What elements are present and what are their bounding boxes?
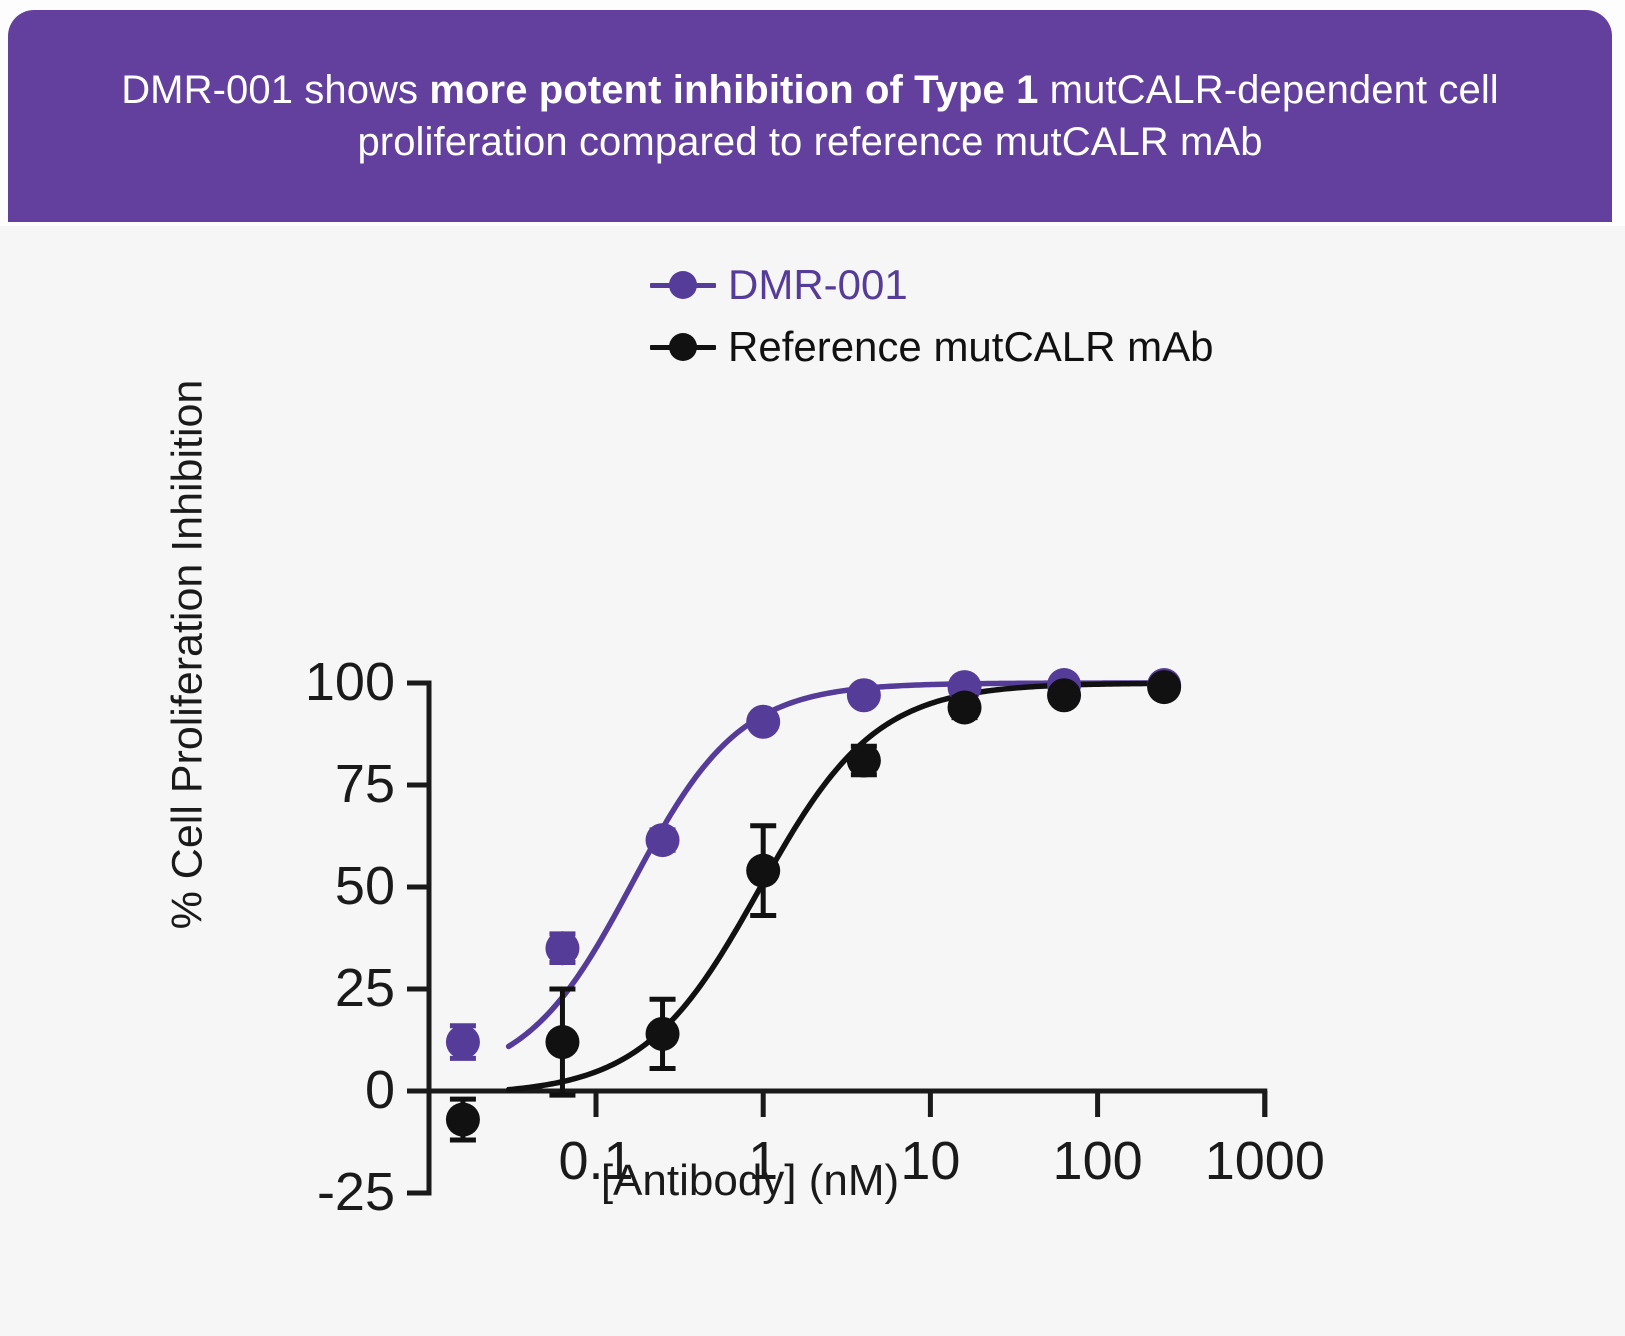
data-point-reference[interactable] [847, 744, 881, 778]
figure-banner: DMR-001 shows more potent inhibition of … [8, 10, 1612, 222]
data-point-reference[interactable] [1047, 678, 1081, 712]
y-axis-tick-label: -25 [317, 1162, 395, 1222]
x-axis-label: [Antibody] (nM) [440, 1156, 1060, 1206]
banner-text-pre: DMR-001 shows [121, 68, 429, 112]
chart-panel: DMR-001 Reference mutCALR mAb -250255075… [0, 226, 1625, 1336]
data-point-reference[interactable] [446, 1103, 480, 1137]
x-axis-tick-label: 1000 [1205, 1131, 1325, 1191]
data-point-dmr001[interactable] [545, 931, 579, 965]
y-axis-tick-label: 75 [335, 754, 395, 814]
data-point-reference[interactable] [646, 1017, 680, 1051]
data-point-reference[interactable] [948, 690, 982, 724]
series-curve-dmr001 [509, 683, 1167, 1046]
data-point-reference[interactable] [545, 1025, 579, 1059]
data-point-reference[interactable] [1147, 670, 1181, 704]
banner-title: DMR-001 shows more potent inhibition of … [48, 64, 1572, 168]
data-point-reference[interactable] [746, 854, 780, 888]
data-point-dmr001[interactable] [446, 1025, 480, 1059]
data-point-dmr001[interactable] [847, 678, 881, 712]
y-axis-tick-label: 100 [305, 652, 395, 712]
figure-root: DMR-001 shows more potent inhibition of … [0, 0, 1625, 1336]
banner-text-emphasis: more potent inhibition of Type 1 [429, 68, 1038, 112]
series-curve-reference [509, 683, 1167, 1089]
x-axis-tick-label: 100 [1053, 1131, 1143, 1191]
data-point-dmr001[interactable] [746, 705, 780, 739]
y-axis-label: % Cell Proliferation Inhibition [164, 375, 213, 935]
y-axis-tick-label: 25 [335, 958, 395, 1018]
plot-area: -2502550751000.11101001000 % Cell Prolif… [0, 226, 1625, 1336]
y-axis-tick-label: 0 [365, 1060, 395, 1120]
data-point-dmr001[interactable] [646, 823, 680, 857]
y-axis-tick-label: 50 [335, 856, 395, 916]
